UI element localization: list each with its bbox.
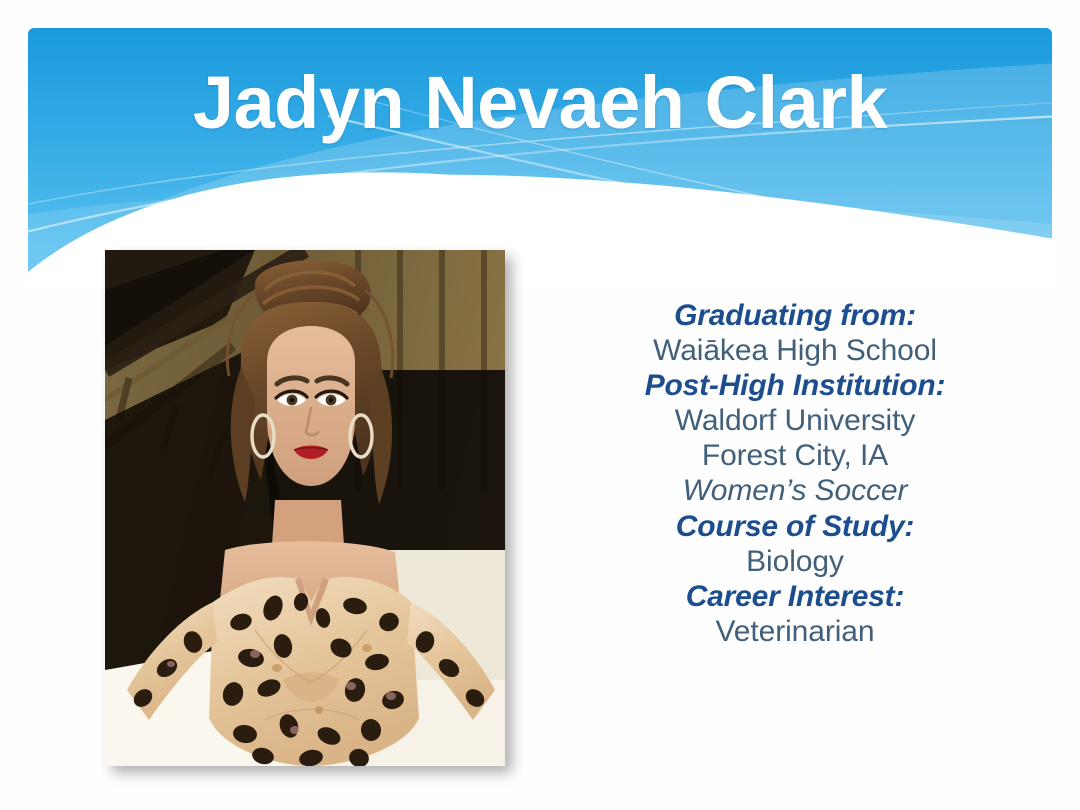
value-text: Biology: [746, 545, 844, 578]
info-value-post-high-institution: Waldorf University: [585, 403, 1005, 438]
label-text: Career Interest:: [686, 580, 905, 613]
info-value-course-of-study: Biology: [585, 544, 1005, 579]
student-portrait-image: [105, 250, 505, 766]
info-value-career-interest: Veterinarian: [585, 614, 1005, 649]
student-info: Graduating from: Waiākea High School Pos…: [585, 298, 1005, 649]
info-label-graduating-from: Graduating from:: [585, 298, 1005, 333]
page-title: Jadyn Nevaeh Clark: [28, 64, 1052, 142]
info-label-post-high-institution: Post-High Institution:: [585, 368, 1005, 403]
info-value-graduating-from: Waiākea High School: [585, 333, 1005, 368]
student-photo: [105, 250, 505, 766]
info-label-course-of-study: Course of Study:: [585, 509, 1005, 544]
info-value-location: Forest City, IA: [585, 438, 1005, 473]
value-text: Waldorf University: [675, 404, 915, 437]
label-text: Course of Study:: [676, 510, 914, 543]
value-text: Veterinarian: [716, 615, 875, 648]
value-text: Women’s Soccer: [683, 474, 908, 507]
label-text: Graduating from:: [674, 299, 916, 332]
info-value-sport: Women’s Soccer: [585, 473, 1005, 508]
slide: Jadyn Nevaeh Clark: [0, 0, 1080, 810]
label-text: Post-High Institution:: [645, 369, 946, 402]
value-text: Waiākea High School: [653, 334, 937, 367]
value-text: Forest City, IA: [702, 439, 888, 472]
info-label-career-interest: Career Interest:: [585, 579, 1005, 614]
